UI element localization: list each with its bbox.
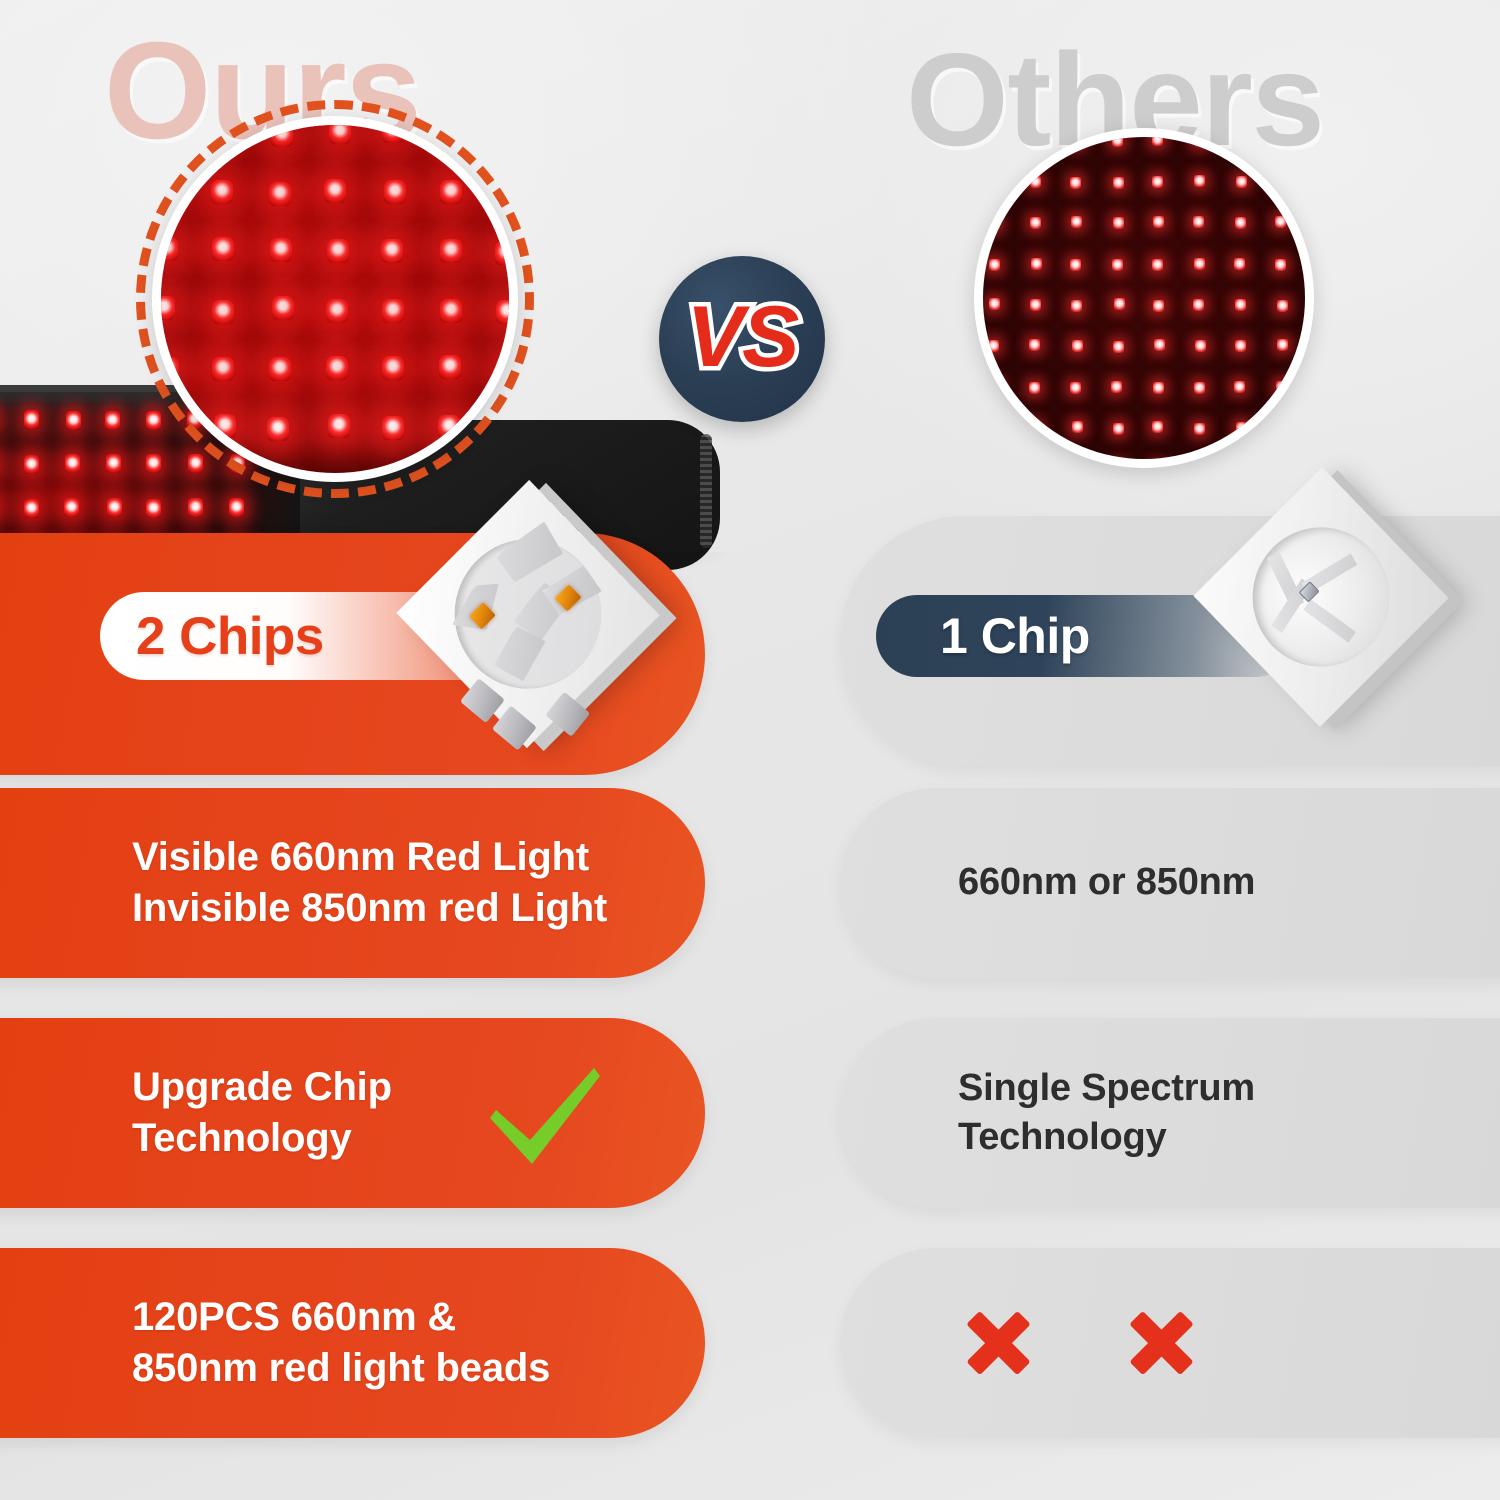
led-dot — [1029, 422, 1040, 434]
led-dot — [214, 414, 236, 438]
led-dot — [1112, 137, 1123, 147]
others-row-wavelength: 660nm or 850nm — [840, 788, 1500, 978]
led-dot — [1236, 137, 1247, 147]
led-dot — [106, 454, 121, 473]
led-dot — [211, 180, 233, 204]
led-dot — [161, 296, 175, 320]
led-dot — [1275, 137, 1286, 146]
magnified-led-panel-dim-icon — [983, 137, 1305, 459]
others-row-technology: Single Spectrum Technology — [840, 1018, 1500, 1208]
led-dot — [1235, 340, 1246, 352]
led-dot — [212, 237, 234, 261]
led-dot — [1277, 339, 1288, 351]
ours-bead-count-line-2: 850nm red light beads — [132, 1343, 550, 1394]
others-technology-text: Single Spectrum Technology — [840, 1064, 1255, 1163]
led-dot — [1114, 298, 1125, 310]
ours-wavelength-text: Visible 660nm Red Light Invisible 850nm … — [0, 832, 607, 934]
led-dot — [1152, 259, 1163, 271]
led-dot — [439, 355, 461, 379]
led-dot — [1113, 423, 1124, 435]
led-dot — [1193, 299, 1204, 311]
ours-bead-count-text: 120PCS 660nm & 850nm red light beads — [0, 1292, 550, 1394]
led-dot — [270, 238, 292, 262]
led-dot — [497, 418, 509, 442]
zoom-callout-others — [974, 128, 1314, 468]
led-dot — [440, 299, 462, 323]
zoom-callout-ours — [152, 116, 518, 482]
led-dot — [1152, 137, 1163, 146]
led-dot — [161, 179, 175, 203]
led-dot — [1029, 137, 1040, 146]
led-dot — [1234, 381, 1245, 393]
others-wavelength-line-1: 660nm or 850nm — [958, 858, 1255, 907]
chip-body — [396, 480, 660, 748]
led-dot — [1030, 176, 1041, 188]
led-dot — [107, 498, 122, 517]
led-dot — [1154, 339, 1165, 351]
led-dot — [1275, 216, 1286, 228]
led-dot — [1234, 258, 1245, 270]
led-dot — [1194, 382, 1205, 394]
led-dot — [64, 498, 79, 517]
red-cross-icon — [955, 1300, 1041, 1386]
led-dot — [989, 259, 1000, 271]
led-dot — [1277, 300, 1288, 312]
chip-cavity — [424, 508, 631, 719]
led-dot — [212, 300, 234, 324]
led-dot — [1235, 217, 1246, 229]
led-dot — [1153, 382, 1164, 394]
led-dot — [1111, 381, 1122, 393]
led-dot — [146, 499, 161, 518]
led-dot — [1193, 216, 1204, 228]
led-dot — [326, 356, 348, 380]
led-dot — [24, 410, 39, 429]
red-cross-icon — [1118, 1300, 1204, 1386]
led-dot — [1113, 217, 1124, 229]
led-dot — [1275, 422, 1286, 434]
led-dot — [328, 414, 350, 438]
led-dot — [269, 357, 291, 381]
others-chip-count-label: 1 Chip — [876, 607, 1090, 665]
ours-wavelength-line-2: Invisible 850nm red Light — [132, 883, 607, 934]
led-dot — [989, 381, 1000, 393]
led-dot — [329, 125, 351, 144]
led-dot — [66, 411, 81, 430]
led-dot — [1029, 382, 1040, 394]
chip-pin — [492, 705, 537, 750]
led-dot — [1031, 258, 1042, 270]
led-chip-1-die-icon — [1196, 486, 1446, 732]
led-dot — [1152, 421, 1163, 433]
comparison-infographic: Ours Others VS 2 Chips 1 Chip — [0, 0, 1500, 1500]
led-dot — [269, 182, 291, 206]
led-dot — [440, 180, 462, 204]
magnified-led-panel-bright-icon — [161, 125, 509, 473]
led-dot — [1072, 421, 1083, 433]
led-dot — [1071, 216, 1082, 228]
others-technology-line-1: Single Spectrum — [958, 1064, 1255, 1113]
chip-lead — [492, 514, 569, 592]
led-dot — [1275, 175, 1286, 187]
led-dot — [161, 357, 179, 381]
led-dot — [229, 498, 244, 517]
led-dot — [382, 125, 404, 143]
led-dot — [382, 356, 404, 380]
led-dot — [499, 125, 509, 146]
led-dot — [989, 176, 1000, 188]
led-dot — [384, 180, 406, 204]
led-dot — [188, 498, 203, 517]
led-dot — [1236, 422, 1247, 434]
chip-pin — [545, 692, 590, 737]
ours-chip-count-label: 2 Chips — [100, 606, 324, 667]
led-dot — [1071, 300, 1082, 312]
lens-frame — [974, 128, 1314, 468]
chip-spoke — [1303, 599, 1356, 642]
led-dot — [1070, 259, 1081, 271]
led-dot — [1276, 381, 1287, 393]
led-dot — [1030, 217, 1041, 229]
ours-bead-count-line-1: 120PCS 660nm & — [132, 1292, 550, 1343]
ours-technology-line-2: Technology — [132, 1113, 392, 1164]
led-dot — [1194, 258, 1205, 270]
led-dot — [272, 296, 294, 320]
ours-wavelength-line-1: Visible 660nm Red Light — [132, 832, 607, 883]
led-dot — [1072, 340, 1083, 352]
led-dot — [24, 455, 39, 474]
led-dot — [211, 125, 233, 143]
led-dot — [1153, 216, 1164, 228]
led-dot — [1113, 341, 1124, 353]
led-dot — [989, 137, 1000, 148]
led-dot — [1113, 177, 1124, 189]
led-dot — [1152, 176, 1163, 188]
led-dot — [161, 416, 178, 440]
green-check-icon — [482, 1062, 606, 1172]
led-dot — [1029, 339, 1040, 351]
others-wavelength-text: 660nm or 850nm — [840, 858, 1255, 907]
led-dot — [324, 179, 346, 203]
led-dot — [326, 299, 348, 323]
chip-pin — [460, 678, 505, 723]
led-dot — [1194, 175, 1205, 187]
led-dot — [495, 241, 509, 265]
lens-frame — [152, 116, 518, 482]
led-dot — [161, 237, 178, 261]
led-dot — [382, 416, 404, 440]
led-dot — [1275, 259, 1286, 271]
led-dot — [988, 340, 999, 352]
chip-body — [1193, 467, 1448, 727]
led-chip-2-die-icon — [398, 498, 658, 753]
chip-cavity — [1224, 499, 1417, 696]
led-dot — [1070, 382, 1081, 394]
led-dot — [1195, 340, 1206, 352]
led-dot — [440, 239, 462, 263]
others-technology-line-2: Technology — [958, 1113, 1255, 1162]
led-dot — [439, 125, 461, 147]
led-dot — [105, 411, 120, 430]
ours-technology-text: Upgrade Chip Technology — [0, 1062, 392, 1164]
versus-label: VS — [687, 294, 798, 380]
led-dot — [1070, 177, 1081, 189]
led-dot — [1235, 299, 1246, 311]
led-dot — [24, 499, 39, 518]
versus-badge-icon: VS — [659, 256, 825, 422]
led-dot — [212, 357, 234, 381]
led-dot — [496, 178, 509, 202]
ours-row-wavelength: Visible 660nm Red Light Invisible 850nm … — [0, 788, 705, 978]
led-dot — [988, 423, 999, 435]
led-dot — [1030, 299, 1041, 311]
led-dot — [1194, 137, 1205, 147]
led-dot — [496, 300, 509, 324]
led-dot — [1112, 259, 1123, 271]
ours-technology-line-1: Upgrade Chip — [132, 1062, 392, 1113]
led-dot — [1236, 176, 1247, 188]
led-dot — [267, 417, 289, 441]
led-dot — [327, 239, 349, 263]
led-dot — [499, 357, 510, 381]
led-dot — [1194, 423, 1205, 435]
ours-row-bead-count: 120PCS 660nm & 850nm red light beads — [0, 1248, 705, 1438]
led-dot — [438, 415, 460, 439]
led-dot — [381, 239, 403, 263]
led-dot — [1071, 137, 1082, 147]
led-dot — [989, 298, 1000, 310]
led-dot — [65, 454, 80, 473]
led-dot — [271, 125, 293, 147]
led-dot — [161, 125, 179, 145]
led-dot — [989, 218, 1000, 230]
led-dot — [1153, 300, 1164, 312]
led-dot — [382, 299, 404, 323]
